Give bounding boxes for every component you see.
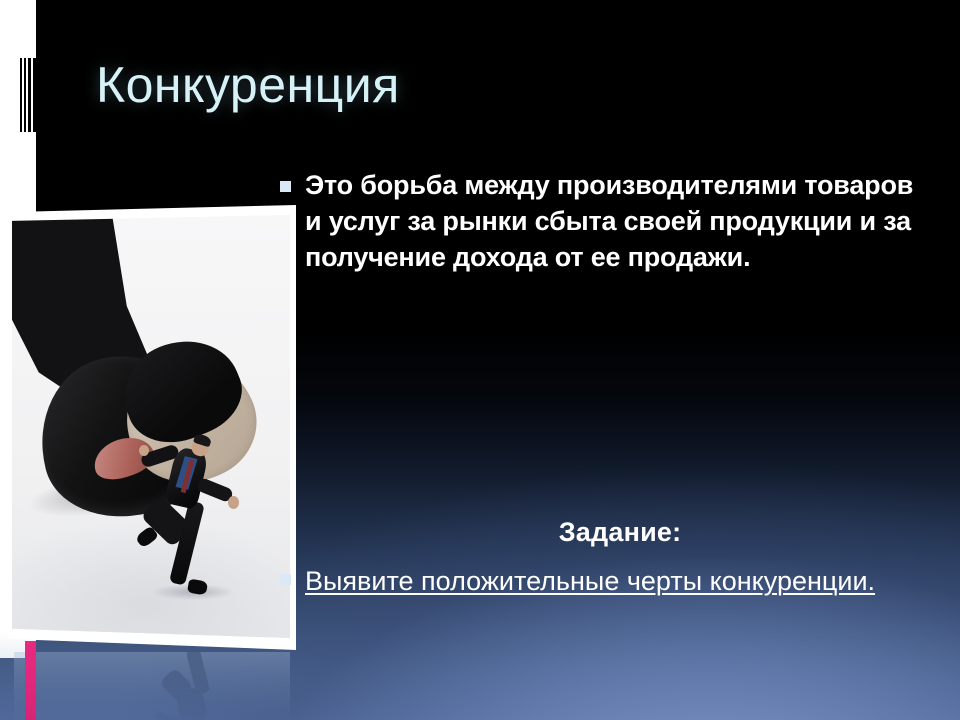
task-heading: Задание:: [300, 517, 940, 548]
slide-title: Конкуренция: [96, 58, 796, 113]
shoe-businessman-photo: [8, 205, 296, 650]
photo-image: [12, 215, 290, 638]
reflection-businessman: [146, 652, 251, 720]
square-bullet-icon: [280, 574, 291, 585]
task-hyperlink[interactable]: Выявите положительные черты конкуренции.: [305, 561, 875, 602]
businessman-front-hand: [228, 496, 239, 509]
photo-reflection: [14, 652, 290, 720]
magenta-accent-bar: [25, 641, 36, 720]
barcode-stripes-icon: [20, 58, 38, 132]
body-bullet-item: Это борьба между производителями товаров…: [280, 168, 930, 276]
businessman-back-hand: [139, 445, 149, 456]
running-businessman: [134, 435, 245, 596]
task-bullet-item: Выявите положительные черты конкуренции.: [280, 561, 940, 602]
presentation-slide: Конкуренция: [0, 0, 960, 720]
body-paragraph: Это борьба между производителями товаров…: [305, 168, 930, 276]
square-bullet-icon: [280, 181, 291, 192]
